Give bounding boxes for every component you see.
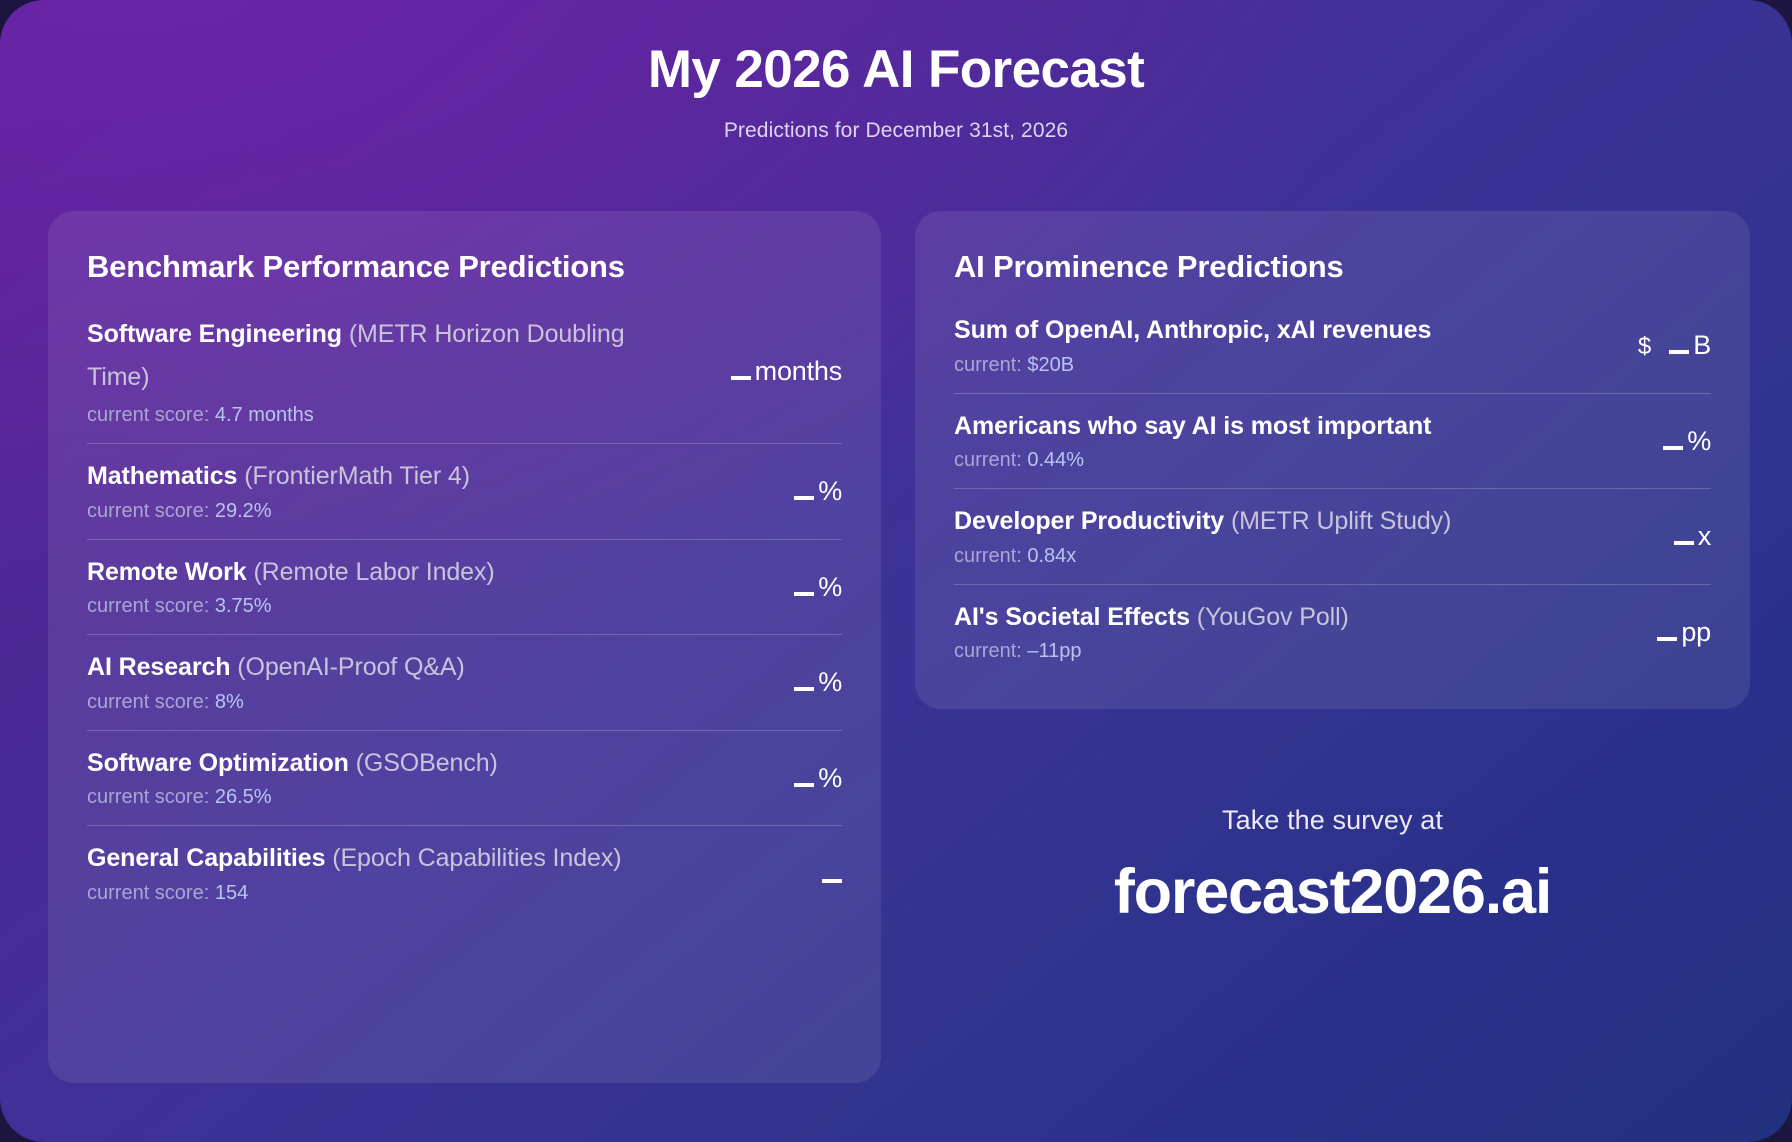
current-score-value: 0.44% (1027, 449, 1084, 471)
current-score-value: 154 (215, 882, 248, 904)
prediction-answer-field[interactable] (822, 864, 842, 883)
answer-blank[interactable] (794, 672, 814, 691)
current-score-value: 8% (215, 691, 244, 713)
answer-unit: % (818, 572, 842, 603)
answer-unit: B (1693, 330, 1711, 361)
answer-blank[interactable] (822, 864, 842, 883)
benchmark-rows-list: Software Engineering (METR Horizon Doubl… (87, 311, 842, 921)
row-label: Mathematics (FrontierMath Tier 4) (87, 459, 780, 495)
prominence-predictions-panel: AI Prominence Predictions Sum of OpenAI,… (915, 211, 1750, 709)
current-score-value: 0.84x (1027, 545, 1076, 567)
row-label: Software Engineering (METR Horizon Doubl… (87, 313, 627, 399)
current-score-label: current score: (87, 882, 215, 904)
answer-unit: x (1698, 521, 1711, 552)
current-score-label: current: (954, 545, 1027, 567)
current-score-value: $20B (1027, 354, 1074, 376)
prediction-row-developer-productivity: Developer Productivity (METR Uplift Stud… (954, 488, 1711, 584)
row-current-score: current score: 4.7 months (87, 402, 627, 429)
answer-unit: pp (1681, 617, 1711, 648)
current-score-label: current: (954, 640, 1027, 662)
current-score-label: current: (954, 354, 1027, 376)
prediction-answer-field[interactable]: % (794, 667, 842, 698)
row-label-name: Remote Work (87, 558, 247, 586)
answer-unit: months (755, 356, 842, 387)
answer-blank[interactable] (1663, 431, 1683, 450)
row-current-score: current score: 3.75% (87, 593, 780, 620)
prediction-answer-field[interactable]: months (731, 356, 842, 387)
current-score-label: current score: (87, 691, 215, 713)
prominence-panel-title: AI Prominence Predictions (954, 249, 1711, 285)
cta-url-text[interactable]: forecast2026.ai (935, 856, 1730, 928)
row-current-score: current: $20B (954, 352, 1624, 379)
answer-unit-prefix: $ (1638, 333, 1651, 361)
row-current-score: current score: 26.5% (87, 784, 780, 811)
prediction-answer-field[interactable]: % (794, 572, 842, 603)
row-label: AI Research (OpenAI-Proof Q&A) (87, 650, 780, 686)
row-text-block: Americans who say AI is most importantcu… (954, 409, 1649, 475)
prediction-answer-field[interactable]: x (1674, 521, 1711, 552)
row-label-name: AI Research (87, 653, 230, 681)
row-current-score: current score: 29.2% (87, 498, 780, 525)
row-current-score: current: –11pp (954, 638, 1643, 665)
row-label-source: (OpenAI-Proof Q&A) (230, 653, 464, 681)
benchmark-panel-title: Benchmark Performance Predictions (87, 249, 842, 285)
row-label: AI's Societal Effects (YouGov Poll) (954, 600, 1643, 636)
answer-blank[interactable] (794, 577, 814, 596)
current-score-label: current score: (87, 786, 215, 808)
row-label: General Capabilities (Epoch Capabilities… (87, 841, 808, 877)
row-current-score: current score: 154 (87, 880, 808, 907)
row-label-name: Americans who say AI is most important (954, 412, 1431, 440)
answer-blank[interactable] (1674, 526, 1694, 545)
prediction-row-sum-of-openai-anthropic-xai-revenues: Sum of OpenAI, Anthropic, xAI revenuescu… (954, 311, 1711, 393)
row-label-name: General Capabilities (87, 844, 325, 872)
answer-blank[interactable] (794, 768, 814, 787)
row-label-name: Software Optimization (87, 749, 349, 777)
survey-call-to-action: Take the survey at forecast2026.ai (915, 805, 1750, 928)
row-text-block: General Capabilities (Epoch Capabilities… (87, 841, 808, 907)
row-text-block: Developer Productivity (METR Uplift Stud… (954, 504, 1660, 570)
current-score-value: 3.75% (215, 595, 272, 617)
row-label-name: Software Engineering (87, 320, 342, 348)
row-current-score: current: 0.84x (954, 543, 1660, 570)
prediction-row-remote-work: Remote Work (Remote Labor Index)current … (87, 539, 842, 635)
current-score-value: 4.7 months (215, 404, 314, 426)
row-current-score: current score: 8% (87, 689, 780, 716)
prediction-row-ai-research: AI Research (OpenAI-Proof Q&A)current sc… (87, 634, 842, 730)
current-score-value: 26.5% (215, 786, 272, 808)
current-score-label: current score: (87, 404, 215, 426)
current-score-value: –11pp (1027, 640, 1081, 662)
answer-blank[interactable] (1657, 622, 1677, 641)
row-label-name: Developer Productivity (954, 507, 1224, 535)
row-label: Developer Productivity (METR Uplift Stud… (954, 504, 1660, 540)
prediction-row-ai-s-societal-effects: AI's Societal Effects (YouGov Poll)curre… (954, 584, 1711, 680)
row-current-score: current: 0.44% (954, 447, 1649, 474)
row-label: Remote Work (Remote Labor Index) (87, 555, 780, 591)
prediction-row-mathematics: Mathematics (FrontierMath Tier 4)current… (87, 443, 842, 539)
prediction-row-general-capabilities: General Capabilities (Epoch Capabilities… (87, 825, 842, 921)
row-label-source: (YouGov Poll) (1190, 603, 1349, 631)
answer-blank[interactable] (794, 481, 814, 500)
row-label-name: AI's Societal Effects (954, 603, 1190, 631)
answer-blank[interactable] (731, 361, 751, 380)
prediction-answer-field[interactable]: pp (1657, 617, 1711, 648)
row-label: Sum of OpenAI, Anthropic, xAI revenues (954, 313, 1624, 349)
row-text-block: AI Research (OpenAI-Proof Q&A)current sc… (87, 650, 780, 716)
answer-unit: % (1687, 426, 1711, 457)
current-score-label: current score: (87, 500, 215, 522)
prediction-answer-field[interactable]: $B (1638, 330, 1711, 361)
prediction-row-software-engineering: Software Engineering (METR Horizon Doubl… (87, 311, 842, 443)
row-label-source: (Remote Labor Index) (247, 558, 495, 586)
answer-blank[interactable] (1669, 335, 1689, 354)
current-score-value: 29.2% (215, 500, 272, 522)
row-label-source: (Epoch Capabilities Index) (325, 844, 621, 872)
current-score-label: current score: (87, 595, 215, 617)
row-text-block: Software Engineering (METR Horizon Doubl… (87, 313, 627, 429)
row-label: Americans who say AI is most important (954, 409, 1649, 445)
row-label-source: (GSOBench) (349, 749, 498, 777)
row-text-block: Software Optimization (GSOBench)current … (87, 746, 780, 812)
row-label-name: Mathematics (87, 462, 237, 490)
prediction-answer-field[interactable]: % (1663, 426, 1711, 457)
forecast-poster: My 2026 AI Forecast Predictions for Dece… (0, 0, 1792, 1142)
answer-unit: % (818, 476, 842, 507)
cta-lead-text: Take the survey at (935, 805, 1730, 836)
panels-container: Benchmark Performance Predictions Softwa… (48, 211, 1745, 1083)
prediction-row-software-optimization: Software Optimization (GSOBench)current … (87, 730, 842, 826)
row-text-block: AI's Societal Effects (YouGov Poll)curre… (954, 600, 1643, 666)
answer-unit: % (818, 667, 842, 698)
poster-header: My 2026 AI Forecast Predictions for Dece… (0, 0, 1792, 143)
prominence-rows-list: Sum of OpenAI, Anthropic, xAI revenuescu… (954, 311, 1711, 679)
row-text-block: Mathematics (FrontierMath Tier 4)current… (87, 459, 780, 525)
page-title: My 2026 AI Forecast (0, 40, 1792, 99)
current-score-label: current: (954, 449, 1027, 471)
row-label: Software Optimization (GSOBench) (87, 746, 780, 782)
row-text-block: Sum of OpenAI, Anthropic, xAI revenuescu… (954, 313, 1624, 379)
prediction-answer-field[interactable]: % (794, 476, 842, 507)
right-column: AI Prominence Predictions Sum of OpenAI,… (915, 211, 1750, 928)
row-text-block: Remote Work (Remote Labor Index)current … (87, 555, 780, 621)
page-subtitle: Predictions for December 31st, 2026 (0, 119, 1792, 143)
row-label-source: (METR Uplift Study) (1224, 507, 1451, 535)
prediction-row-americans-who-say-ai-is-most-important: Americans who say AI is most importantcu… (954, 393, 1711, 489)
left-column: Benchmark Performance Predictions Softwa… (48, 211, 881, 1083)
answer-unit: % (818, 763, 842, 794)
benchmark-predictions-panel: Benchmark Performance Predictions Softwa… (48, 211, 881, 1083)
prediction-answer-field[interactable]: % (794, 763, 842, 794)
row-label-name: Sum of OpenAI, Anthropic, xAI revenues (954, 316, 1431, 344)
row-label-source: (FrontierMath Tier 4) (237, 462, 470, 490)
